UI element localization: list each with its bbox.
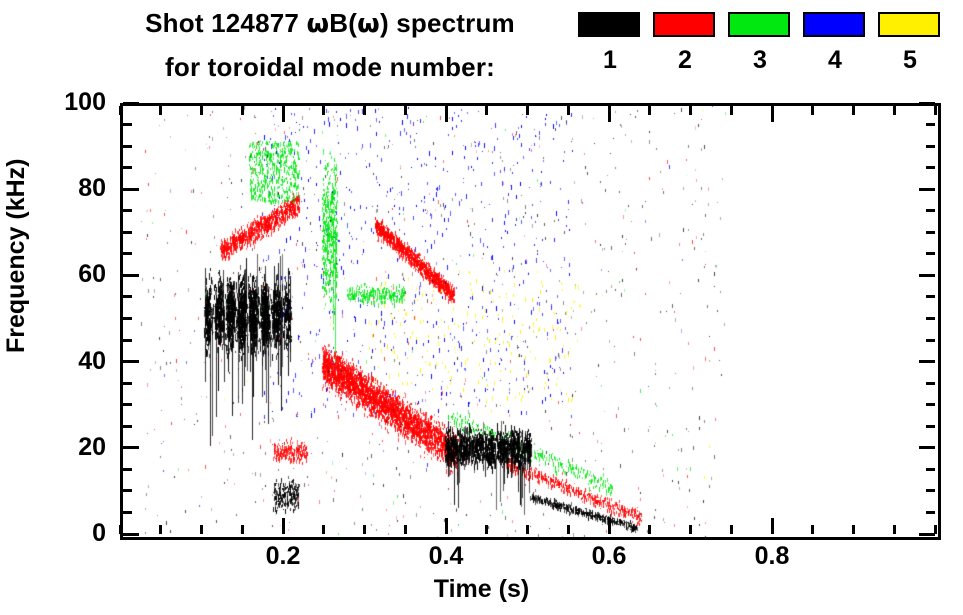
- legend-item-mode-1: 1: [578, 12, 642, 73]
- y-tick-left-60: [123, 274, 139, 277]
- y-tick-right-70: [926, 231, 935, 234]
- y-tick-left-15: [123, 468, 132, 471]
- legend-swatch-mode-5: [878, 12, 940, 37]
- x-tick-bottom-0: [119, 525, 122, 534]
- x-tick-top-0.35: [404, 106, 407, 115]
- x-tick-label-0.6: 0.6: [564, 544, 654, 569]
- x-tick-bottom-0.25: [322, 525, 325, 534]
- legend-swatch-mode-1: [578, 12, 640, 37]
- y-tick-right-55: [926, 295, 935, 298]
- x-tick-top-0.85: [811, 106, 814, 115]
- y-tick-label-60: 60: [40, 262, 106, 287]
- legend-label-mode-1: 1: [578, 48, 642, 73]
- x-tick-bottom-0.05: [159, 525, 162, 534]
- y-tick-right-60: [919, 274, 935, 277]
- y-tick-right-30: [926, 403, 935, 406]
- x-tick-top-0.3: [363, 106, 366, 115]
- y-tick-left-0: [123, 533, 139, 536]
- x-tick-bottom-0.6: [608, 518, 611, 534]
- x-tick-top-0.7: [689, 106, 692, 115]
- x-tick-label-0.2: 0.2: [238, 544, 328, 569]
- y-tick-label-0: 0: [40, 521, 106, 546]
- omega-symbol-2: ω: [357, 9, 380, 39]
- x-tick-bottom-0.2: [282, 518, 285, 534]
- legend-label-mode-5: 5: [878, 48, 942, 73]
- x-tick-top-0.65: [648, 106, 651, 115]
- y-tick-left-85: [123, 166, 132, 169]
- y-tick-left-65: [123, 252, 132, 255]
- legend-label-mode-2: 2: [653, 48, 717, 73]
- y-tick-left-75: [123, 209, 132, 212]
- y-tick-left-100: [123, 102, 139, 105]
- y-tick-left-10: [123, 489, 132, 492]
- y-axis-label: Frequency (kHz): [2, 159, 31, 353]
- x-tick-top-0.5: [526, 106, 529, 115]
- x-tick-bottom-0.35: [404, 525, 407, 534]
- x-tick-top-0.2: [282, 106, 285, 122]
- x-tick-bottom-0.45: [485, 525, 488, 534]
- legend: 12345: [578, 12, 958, 90]
- y-tick-right-75: [926, 209, 935, 212]
- x-tick-top-0.8: [771, 106, 774, 122]
- x-tick-bottom-0.1: [200, 525, 203, 534]
- x-tick-top-0.45: [485, 106, 488, 115]
- y-tick-right-90: [926, 145, 935, 148]
- y-tick-right-5: [926, 511, 935, 514]
- y-tick-right-50: [926, 317, 935, 320]
- figure-title-line-1: Shot 124877 ωB(ω) spectrum: [0, 8, 660, 39]
- y-tick-left-55: [123, 295, 132, 298]
- x-tick-bottom-0.5: [526, 525, 529, 534]
- title-b-open: B(: [329, 8, 357, 38]
- figure-title-line-2: for toroidal mode number:: [0, 52, 660, 83]
- spectrogram-canvas: [123, 106, 938, 537]
- spectrogram-figure: Shot 124877 ωB(ω) spectrum for toroidal …: [0, 0, 963, 615]
- y-tick-left-25: [123, 425, 132, 428]
- x-tick-bottom-0.55: [567, 525, 570, 534]
- x-tick-top-0.15: [241, 106, 244, 115]
- legend-item-mode-5: 5: [878, 12, 942, 73]
- legend-item-mode-3: 3: [728, 12, 792, 73]
- y-tick-right-85: [926, 166, 935, 169]
- x-tick-top-0: [119, 106, 122, 115]
- y-tick-right-10: [926, 489, 935, 492]
- x-tick-bottom-0.15: [241, 525, 244, 534]
- y-tick-left-45: [123, 339, 132, 342]
- x-tick-bottom-0.3: [363, 525, 366, 534]
- y-tick-left-30: [123, 403, 132, 406]
- legend-swatch-mode-4: [803, 12, 865, 37]
- y-tick-right-65: [926, 252, 935, 255]
- x-axis-label: Time (s): [0, 575, 963, 604]
- y-tick-left-90: [123, 145, 132, 148]
- y-tick-right-15: [926, 468, 935, 471]
- x-tick-bottom-1: [934, 525, 937, 534]
- y-tick-right-95: [926, 123, 935, 126]
- y-tick-left-80: [123, 188, 139, 191]
- legend-item-mode-4: 4: [803, 12, 867, 73]
- y-tick-right-80: [919, 188, 935, 191]
- x-tick-top-0.55: [567, 106, 570, 115]
- y-tick-right-45: [926, 339, 935, 342]
- x-tick-top-0.9: [852, 106, 855, 115]
- x-tick-bottom-0.4: [445, 518, 448, 534]
- y-tick-left-35: [123, 382, 132, 385]
- title-spectrum-text: ) spectrum: [380, 8, 515, 38]
- y-tick-right-20: [919, 446, 935, 449]
- x-tick-label-0.8: 0.8: [727, 544, 817, 569]
- y-tick-left-20: [123, 446, 139, 449]
- y-tick-left-50: [123, 317, 132, 320]
- legend-swatch-mode-2: [653, 12, 715, 37]
- y-tick-label-20: 20: [40, 435, 106, 460]
- x-tick-top-1: [934, 106, 937, 115]
- x-tick-top-0.6: [608, 106, 611, 122]
- x-tick-top-0.75: [730, 106, 733, 115]
- x-tick-top-0.4: [445, 106, 448, 122]
- y-tick-right-25: [926, 425, 935, 428]
- x-tick-label-0.4: 0.4: [401, 544, 491, 569]
- y-tick-left-5: [123, 511, 132, 514]
- x-tick-bottom-0.65: [648, 525, 651, 534]
- y-tick-label-80: 80: [40, 176, 106, 201]
- y-tick-label-100: 100: [40, 90, 106, 115]
- legend-label-mode-4: 4: [803, 48, 867, 73]
- x-tick-bottom-0.9: [852, 525, 855, 534]
- x-tick-top-0.25: [322, 106, 325, 115]
- y-tick-right-35: [926, 382, 935, 385]
- y-tick-left-95: [123, 123, 132, 126]
- y-tick-left-40: [123, 360, 139, 363]
- title-shot-text: Shot 124877: [145, 8, 306, 38]
- x-tick-top-0.95: [893, 106, 896, 115]
- x-tick-bottom-0.8: [771, 518, 774, 534]
- y-tick-left-70: [123, 231, 132, 234]
- legend-swatch-mode-3: [728, 12, 790, 37]
- legend-label-mode-3: 3: [728, 48, 792, 73]
- plot-frame: [120, 103, 941, 540]
- x-tick-bottom-0.7: [689, 525, 692, 534]
- x-tick-bottom-0.95: [893, 525, 896, 534]
- y-tick-label-40: 40: [40, 349, 106, 374]
- x-tick-top-0.05: [159, 106, 162, 115]
- x-tick-bottom-0.85: [811, 525, 814, 534]
- y-tick-right-40: [919, 360, 935, 363]
- x-tick-bottom-0.75: [730, 525, 733, 534]
- omega-symbol-1: ω: [306, 9, 329, 39]
- legend-item-mode-2: 2: [653, 12, 717, 73]
- x-tick-top-0.1: [200, 106, 203, 115]
- y-tick-right-100: [919, 102, 935, 105]
